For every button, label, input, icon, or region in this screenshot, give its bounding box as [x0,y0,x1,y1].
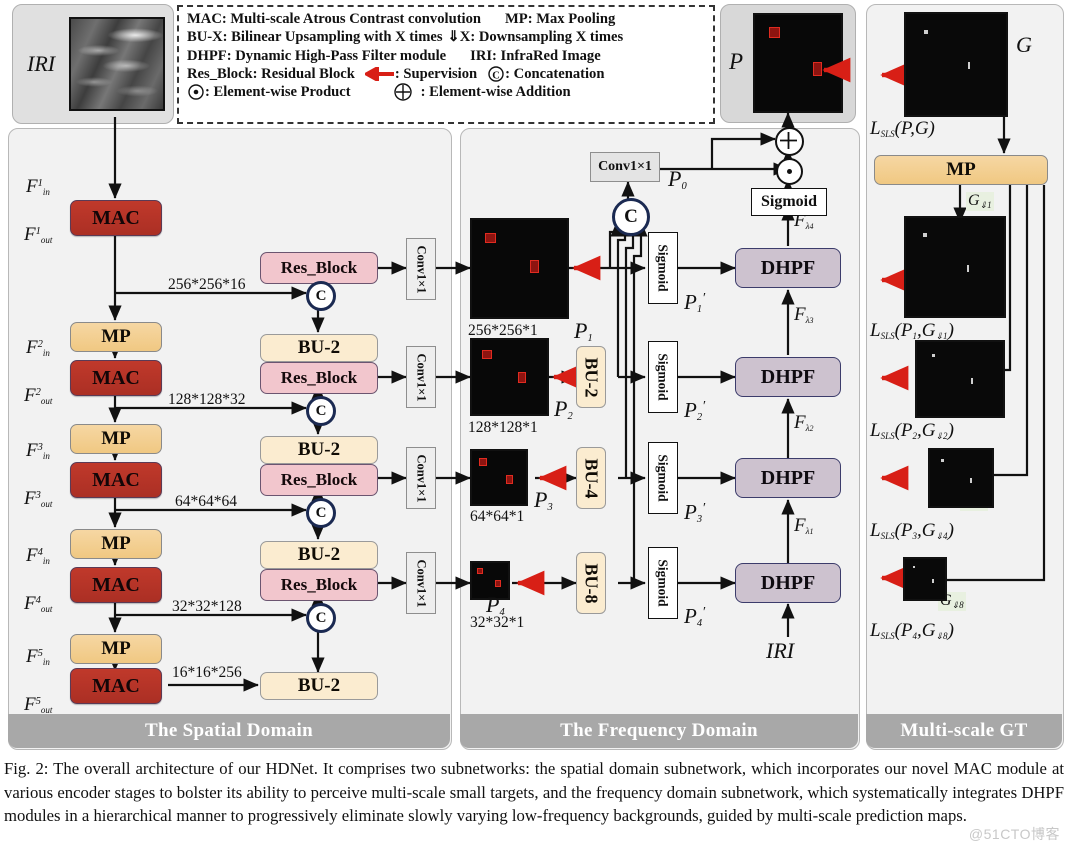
prediction-map-p2-dims: 128*128*1 [468,419,538,437]
res-block-2[interactable]: Res_Block [260,362,378,394]
elementwise-addition-icon [393,83,413,101]
concat-circle-frequency[interactable]: C [612,198,650,236]
dhpf-block-1[interactable]: DHPF [735,563,841,603]
sigmoid-box-3[interactable]: Sigmoid [648,442,678,514]
iri-input-image [69,17,165,111]
prediction-map-p1-label: P1 [574,318,593,344]
sigmoid-output-p4-label: P4′ [684,604,705,629]
prediction-map-p2 [470,338,549,416]
gt-map-down4 [928,448,994,508]
gt-map-down2 [915,340,1005,418]
legend-bu: BU-X: Bilinear Upsampling with X times [187,28,443,46]
output-p-label: P [729,49,743,75]
res-block-1[interactable]: Res_Block [260,252,378,284]
prediction-map-p4-dims: 32*32*1 [470,614,524,632]
mp-block-3[interactable]: MP [70,424,162,454]
conv1x1-spatial-2[interactable]: Conv1×1 [406,346,436,408]
f-lambda-3-label: Fλ3 [794,304,814,326]
prediction-map-p3-label: P3 [534,487,553,513]
mac-block-4[interactable]: MAC [70,567,162,603]
skip-dim-2: 128*128*32 [168,391,246,409]
prediction-map-p1 [470,218,569,319]
loss-label-p3: LSLS(P3,G⇓4) [870,520,954,542]
prediction-map-p3 [470,449,528,506]
legend-concatenation: : Concatenation [505,65,604,83]
legend-addition: : Element-wise Addition [421,83,571,101]
sigmoid-box-final[interactable]: Sigmoid [751,188,827,216]
mp-block-5[interactable]: MP [70,634,162,664]
sigmoid-box-4-label: Sigmoid [655,559,671,606]
loss-label-p1: LSLS(P1,G⇓1) [870,320,954,342]
loss-label-p: LSLS(P,G) [870,118,935,140]
legend-row-1: MAC: Multi-scale Atrous Contrast convolu… [187,10,705,28]
bu2-decoder-5[interactable]: BU-2 [260,672,378,700]
conv1x1-spatial-3-label: Conv1×1 [414,454,429,502]
output-p-map [753,13,843,113]
spatial-domain-footer: The Spatial Domain [8,714,450,748]
conv1x1-frequency-top[interactable]: Conv1×1 [590,152,660,182]
mac-block-3[interactable]: MAC [70,462,162,498]
gt-tag-down1: G⇓1 [966,192,994,211]
sigmoid-box-2-label: Sigmoid [655,353,671,400]
f-out-label-3: F3out [24,488,52,510]
bu4-frequency-label: BU-4 [581,458,602,498]
mp-block-2[interactable]: MP [70,322,162,352]
legend-res-block: Res_Block: Residual Block [187,65,355,83]
gt-root-label: G [1016,32,1032,58]
gt-panel-footer: Multi-scale GT [866,714,1062,748]
sigmoid-output-p2-label: P2′ [684,398,705,423]
elementwise-product-icon [187,84,205,100]
iri-frequency-label: IRI [766,638,794,664]
legend-supervision: : Supervision [395,65,477,83]
mp-block-4[interactable]: MP [70,529,162,559]
mac-block-1[interactable]: MAC [70,200,162,236]
elementwise-addition-node[interactable] [775,127,804,156]
bu2-frequency-label: BU-2 [581,357,602,397]
legend-mac: MAC: Multi-scale Atrous Contrast convolu… [187,10,481,28]
iri-input-label: IRI [27,51,55,77]
concat-circle-2[interactable]: C [306,396,336,426]
legend-downsample: ⇓X: Downsampling X times [448,28,624,46]
conv1x1-spatial-4-label: Conv1×1 [414,559,429,607]
sigmoid-output-p1-label: P1′ [684,290,705,315]
svg-text:C: C [492,71,500,82]
sigmoid-box-3-label: Sigmoid [655,454,671,501]
conv1x1-spatial-4[interactable]: Conv1×1 [406,552,436,614]
dhpf-block-2[interactable]: DHPF [735,458,841,498]
supervision-arrow-icon [365,67,395,81]
legend-iri: IRI: InfraRed Image [470,47,601,65]
sigmoid-box-1[interactable]: Sigmoid [648,232,678,304]
sigmoid-box-1-label: Sigmoid [655,244,671,291]
skip-dim-4: 32*32*128 [172,598,242,616]
mac-block-2[interactable]: MAC [70,360,162,396]
bu8-frequency[interactable]: BU-8 [576,552,606,614]
conv1x1-spatial-2-label: Conv1×1 [414,353,429,401]
skip-dim-5: 16*16*256 [172,664,242,682]
skip-dim-3: 64*64*64 [175,493,237,511]
f-in-label-3: F3in [26,440,50,462]
f-out-label-4: F4out [24,593,52,615]
figure-caption: Fig. 2: The overall architecture of our … [4,757,1064,828]
f-lambda-2-label: Fλ2 [794,412,814,434]
concat-circle-1[interactable]: C [306,281,336,311]
legend-box: MAC: Multi-scale Atrous Contrast convolu… [177,5,715,124]
legend-row-4: Res_Block: Residual Block : Supervision … [187,65,705,83]
frequency-domain-footer: The Frequency Domain [460,714,858,748]
iri-input-panel: IRI [12,4,174,124]
sigmoid-box-4[interactable]: Sigmoid [648,547,678,619]
elementwise-product-node[interactable] [776,158,803,185]
legend-product: : Element-wise Product [205,83,351,101]
output-p-panel: P [720,4,856,123]
res-block-3[interactable]: Res_Block [260,464,378,496]
concatenation-icon: C [487,66,505,82]
prediction-map-p2-label: P2 [554,396,573,422]
gt-mp-block[interactable]: MP [874,155,1048,185]
f-out-label-5: F5out [24,694,52,716]
skip-dim-1: 256*256*16 [168,276,246,294]
loss-label-p4: LSLS(P4,G⇓8) [870,620,954,642]
f-in-label-5: F5in [26,646,50,668]
f-lambda-1-label: Fλ1 [794,515,814,537]
legend-row-3: DHPF: Dynamic High-Pass Filter module IR… [187,47,705,65]
loss-label-p2: LSLS(P2,G⇓2) [870,420,954,442]
f-in-label-1: F1in [26,176,50,198]
watermark: @51CTO博客 [969,824,1060,844]
dhpf-block-3[interactable]: DHPF [735,357,841,397]
conv1x1-spatial-1-label: Conv1×1 [414,245,429,293]
f-in-label-4: F4in [26,545,50,567]
dhpf-block-4[interactable]: DHPF [735,248,841,288]
p0-label: P0 [668,166,687,192]
legend-dhpf: DHPF: Dynamic High-Pass Filter module [187,47,446,65]
prediction-map-p3-dims: 64*64*1 [470,508,524,526]
f-out-label-1: F1out [24,224,52,246]
bu2-decoder-2[interactable]: BU-2 [260,334,378,362]
bu2-decoder-4[interactable]: BU-2 [260,541,378,569]
sigmoid-box-2[interactable]: Sigmoid [648,341,678,413]
gt-map-down8 [903,557,947,601]
bu8-frequency-label: BU-8 [581,563,602,603]
f-in-label-2: F2in [26,337,50,359]
concat-circle-3[interactable]: C [306,498,336,528]
legend-mp: MP: Max Pooling [505,10,615,28]
gt-map-full [904,12,1008,117]
legend-row-5: : Element-wise Product : Element-wise Ad… [187,83,705,101]
conv1x1-spatial-1[interactable]: Conv1×1 [406,238,436,300]
f-out-label-2: F2out [24,385,52,407]
gt-map-down1 [904,216,1006,318]
bu4-frequency[interactable]: BU-4 [576,447,606,509]
concat-circle-4[interactable]: C [306,603,336,633]
figure-hdnet-architecture: IRI MAC: Multi-scale Atrous Contrast con… [0,0,1068,854]
mac-block-5[interactable]: MAC [70,668,162,704]
bu2-decoder-3[interactable]: BU-2 [260,436,378,464]
legend-row-2: BU-X: Bilinear Upsampling with X times ⇓… [187,28,705,46]
sigmoid-output-p3-label: P3′ [684,500,705,525]
bu2-frequency[interactable]: BU-2 [576,346,606,408]
conv1x1-spatial-3[interactable]: Conv1×1 [406,447,436,509]
res-block-4[interactable]: Res_Block [260,569,378,601]
